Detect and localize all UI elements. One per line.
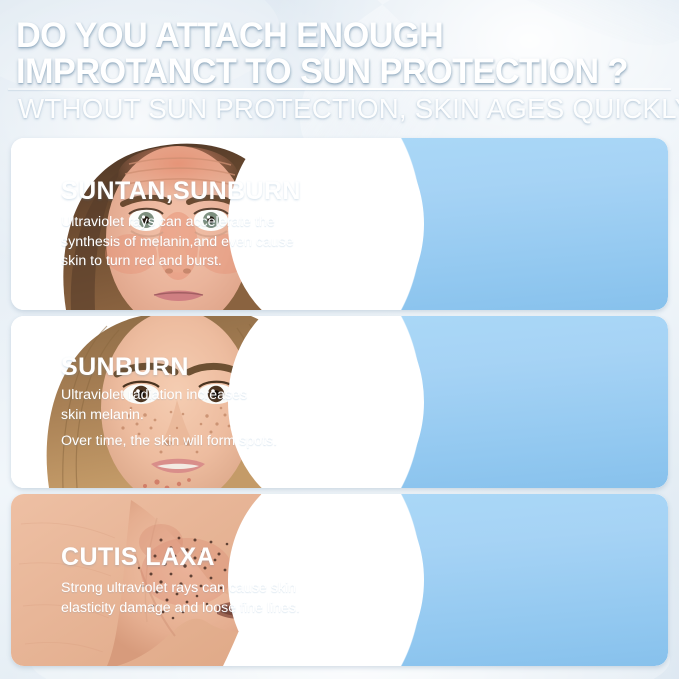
card-body-1: Ultraviolet rays can accelerate the synt… bbox=[61, 213, 341, 272]
card-text-3: CUTIS LAXA Strong ultraviolet rays can c… bbox=[61, 494, 353, 666]
header-divider-rule bbox=[8, 88, 671, 90]
card-sunburn: SUNBURN Ultraviolet radiation increases … bbox=[11, 316, 668, 488]
card-cutis-laxa: CUTIS LAXA Strong ultraviolet rays can c… bbox=[11, 494, 668, 666]
headline-line-1: DO YOU ATTACH ENOUGH bbox=[16, 17, 653, 54]
info-panel-1 bbox=[326, 138, 668, 310]
card-title-sunburn: SUNBURN bbox=[61, 352, 341, 382]
card-body-line: Ultraviolet radiation increases bbox=[61, 386, 341, 406]
card-text-2: SUNBURN Ultraviolet radiation increases … bbox=[61, 316, 353, 488]
card-suntan-sunburn: SUNTAN,SUNBURN Ultraviolet rays can acce… bbox=[11, 138, 668, 310]
card-body-2: Ultraviolet radiation increases skin mel… bbox=[61, 386, 341, 452]
card-title-cutis-laxa: CUTIS LAXA bbox=[61, 542, 341, 572]
benefit-cards-list: SUNTAN,SUNBURN Ultraviolet rays can acce… bbox=[11, 138, 668, 672]
info-panel-2 bbox=[326, 316, 668, 488]
card-body-3: Strong ultraviolet rays can cause skin e… bbox=[61, 579, 341, 618]
card-body-line: elasticity damage and loose fine lines. bbox=[61, 599, 341, 619]
card-body-line: skin melanin. bbox=[61, 406, 341, 426]
header: DO YOU ATTACH ENOUGH IMPROTANCT TO SUN P… bbox=[0, 0, 679, 132]
subheadline: WTHOUT SUN PROTECTION, SKIN AGES QUICKLY bbox=[18, 93, 662, 125]
card-text-1: SUNTAN,SUNBURN Ultraviolet rays can acce… bbox=[61, 138, 353, 310]
card-body-line: Over time, the skin will form spots. bbox=[61, 432, 341, 452]
card-body-line: synthesis of melanin,and even cause bbox=[61, 233, 341, 253]
card-body-line: Strong ultraviolet rays can cause skin bbox=[61, 579, 341, 599]
card-body-line: Ultraviolet rays can accelerate the bbox=[61, 213, 341, 233]
card-body-line: skin to turn red and burst. bbox=[61, 252, 341, 272]
headline-line-2: IMPROTANCT TO SUN PROTECTION ? bbox=[16, 53, 653, 90]
info-panel-3 bbox=[326, 494, 668, 666]
card-title-suntan-sunburn: SUNTAN,SUNBURN bbox=[61, 176, 341, 206]
